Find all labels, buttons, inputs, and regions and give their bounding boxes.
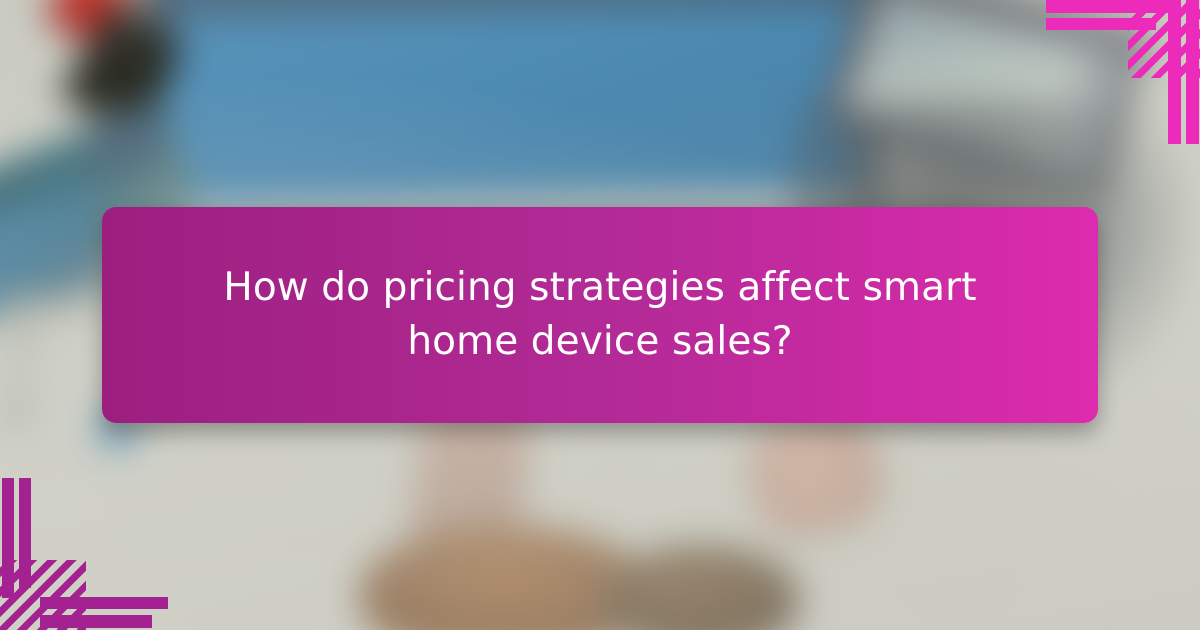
page-title: How do pricing strategies affect smart h… — [205, 261, 995, 369]
bottom-left-bar-horizontal-2 — [40, 615, 152, 628]
top-right-bar-horizontal-2 — [1046, 18, 1156, 30]
top-right-bar-vertical-1 — [1168, 0, 1181, 144]
top-right-bar-horizontal-1 — [1046, 0, 1172, 13]
share-card-canvas: How do pricing strategies affect smart h… — [0, 0, 1200, 630]
top-right-bar-vertical-2 — [1186, 0, 1199, 144]
bottom-left-bar-vertical-1 — [2, 478, 14, 598]
title-banner: How do pricing strategies affect smart h… — [102, 207, 1098, 423]
bottom-left-bar-horizontal-1 — [40, 597, 168, 609]
bottom-left-bar-vertical-2 — [19, 478, 31, 588]
